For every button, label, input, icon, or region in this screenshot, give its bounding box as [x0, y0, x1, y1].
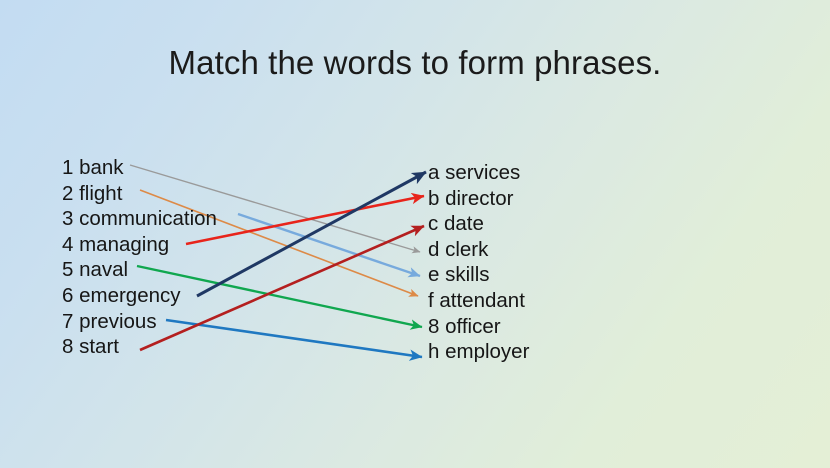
connector-emergency-to-services[interactable]	[197, 172, 426, 296]
right-item-e[interactable]: e skills	[428, 262, 529, 288]
connector-communication-to-skills[interactable]	[238, 214, 420, 276]
left-item-8[interactable]: 8 start	[62, 334, 217, 360]
left-word-column: 1 bank 2 flight 3 communication 4 managi…	[62, 155, 217, 360]
right-item-f[interactable]: f attendant	[428, 288, 529, 314]
left-item-5[interactable]: 5 naval	[62, 257, 217, 283]
left-item-7[interactable]: 7 previous	[62, 309, 217, 335]
right-item-h[interactable]: h employer	[428, 339, 529, 365]
connector-managing-to-director[interactable]	[186, 196, 424, 244]
left-item-2[interactable]: 2 flight	[62, 181, 217, 207]
right-word-column: a services b director c date d clerk e s…	[428, 160, 529, 365]
page-title: Match the words to form phrases.	[0, 43, 830, 83]
left-item-3[interactable]: 3 communication	[62, 206, 217, 232]
left-item-4[interactable]: 4 managing	[62, 232, 217, 258]
right-item-c[interactable]: c date	[428, 211, 529, 237]
left-item-6[interactable]: 6 emergency	[62, 283, 217, 309]
right-item-g[interactable]: 8 officer	[428, 314, 529, 340]
right-item-a[interactable]: a services	[428, 160, 529, 186]
slide-canvas: Match the words to form phrases.	[0, 0, 830, 468]
left-item-1[interactable]: 1 bank	[62, 155, 217, 181]
right-item-d[interactable]: d clerk	[428, 237, 529, 263]
right-item-b[interactable]: b director	[428, 186, 529, 212]
